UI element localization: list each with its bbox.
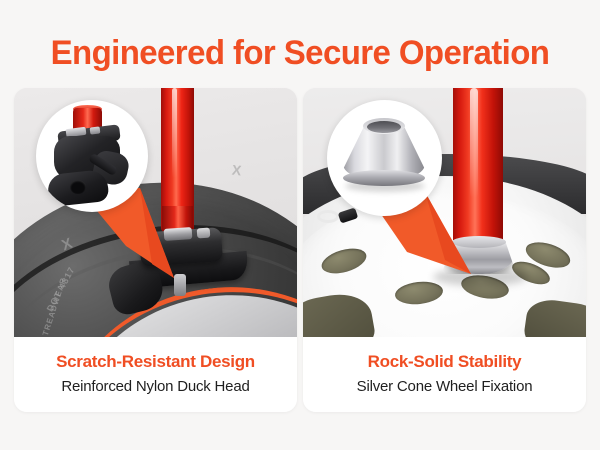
feature-title: Scratch-Resistant Design: [14, 351, 297, 373]
feature-card-list: X X DOT 4817 TREADWEAR: [14, 88, 586, 412]
feature-caption-scratch-resistant-design: Scratch-Resistant Design Reinforced Nylo…: [14, 337, 297, 412]
promo-banner: Engineered for Secure Operation X X DOT …: [0, 0, 600, 450]
duck-head-scene: X X DOT 4817 TREADWEAR: [14, 88, 297, 337]
silver-cone-scene: [303, 88, 586, 337]
callout-bubble-duck-head: [36, 100, 148, 212]
callout-bubble-silver-cone: [327, 100, 442, 216]
page-title: Engineered for Secure Operation: [9, 32, 591, 74]
feature-card-scratch-resistant-design[interactable]: X X DOT 4817 TREADWEAR: [14, 88, 297, 412]
feature-subtitle: Reinforced Nylon Duck Head: [14, 377, 297, 397]
cone-bore: [367, 121, 401, 133]
feature-caption-rock-solid-stability: Rock-Solid Stability Silver Cone Wheel F…: [303, 337, 586, 412]
cone-base-ring: [343, 170, 425, 186]
feature-title: Rock-Solid Stability: [303, 351, 586, 373]
feature-card-rock-solid-stability[interactable]: Rock-Solid Stability Silver Cone Wheel F…: [303, 88, 586, 412]
feature-photo-duck-head: X X DOT 4817 TREADWEAR: [14, 88, 297, 337]
feature-subtitle: Silver Cone Wheel Fixation: [303, 377, 586, 397]
tool-jaw-hole: [70, 180, 86, 194]
tool-bolt-secondary: [90, 126, 101, 134]
feature-photo-silver-cone: [303, 88, 586, 337]
